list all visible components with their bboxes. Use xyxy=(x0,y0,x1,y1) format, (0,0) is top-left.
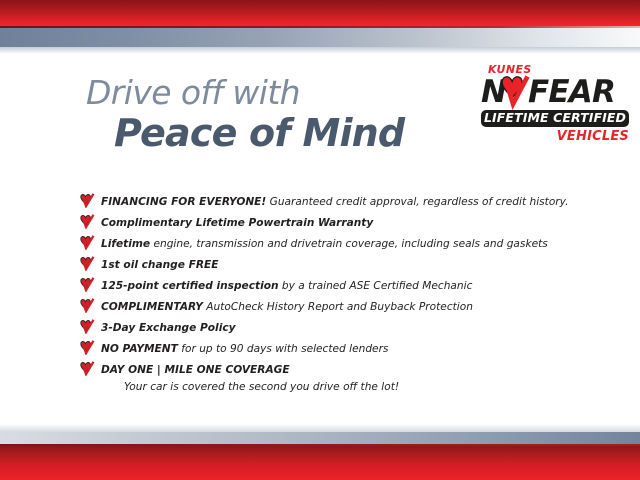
headline-line-1: Drive off with xyxy=(86,76,466,109)
feature-item: 3-Day Exchange Policy xyxy=(78,318,578,339)
feature-text: DAY ONE | MILE ONE COVERAGE xyxy=(101,364,290,376)
logo-certified-bar: LIFETIME CERTIFIED xyxy=(481,110,629,127)
heart-check-icon xyxy=(78,277,95,292)
logo-suffix-vehicles: VEHICLES xyxy=(481,130,629,143)
headline-line-2: Peace of Mind xyxy=(114,114,466,152)
feature-item: 125-point certified inspection by a trai… xyxy=(78,276,578,297)
feature-text-block: FINANCING FOR EVERYONE! Guaranteed credi… xyxy=(101,192,568,210)
feature-headline: Complimentary Lifetime Powertrain Warran… xyxy=(101,217,373,229)
feature-item: DAY ONE | MILE ONE COVERAGEYour car is c… xyxy=(78,360,578,395)
feature-text: COMPLIMENTARY AutoCheck History Report a… xyxy=(101,301,473,313)
feature-text-block: COMPLIMENTARY AutoCheck History Report a… xyxy=(101,297,473,315)
top-red-band xyxy=(0,0,640,26)
promo-banner: Drive off with Peace of Mind KUNES N FEA… xyxy=(0,0,640,480)
top-silver-band xyxy=(0,28,640,47)
heart-check-icon xyxy=(498,75,530,111)
logo-wordmark: N FEAR xyxy=(481,76,631,109)
heart-check-icon xyxy=(78,256,95,271)
feature-text: NO PAYMENT for up to 90 days with select… xyxy=(101,343,388,355)
feature-headline: 3-Day Exchange Policy xyxy=(101,322,236,334)
no-fear-logo: KUNES N FEAR LIFETIME CERTIFIED VEHICLES xyxy=(481,64,631,143)
headline: Drive off with Peace of Mind xyxy=(86,76,466,152)
feature-text: 3-Day Exchange Policy xyxy=(101,322,236,334)
heart-check-icon xyxy=(78,193,95,208)
feature-text-block: 125-point certified inspection by a trai… xyxy=(101,276,472,294)
feature-headline: NO PAYMENT xyxy=(101,343,178,355)
feature-headline: COMPLIMENTARY xyxy=(101,301,203,313)
feature-text-block: 1st oil change FREE xyxy=(101,255,219,273)
heart-check-icon xyxy=(78,361,95,376)
feature-item: Complimentary Lifetime Powertrain Warran… xyxy=(78,213,578,234)
feature-text-block: Complimentary Lifetime Powertrain Warran… xyxy=(101,213,373,231)
heart-check-icon xyxy=(78,298,95,313)
heart-check-icon xyxy=(78,214,95,229)
feature-headline: 125-point certified inspection xyxy=(101,280,279,292)
feature-text-block: Lifetime engine, transmission and drivet… xyxy=(101,234,548,252)
heart-check-icon xyxy=(78,235,95,250)
feature-detail: AutoCheck History Report and Buyback Pro… xyxy=(203,301,473,313)
feature-text: 1st oil change FREE xyxy=(101,259,219,271)
feature-headline: 1st oil change FREE xyxy=(101,259,219,271)
bottom-red-band xyxy=(0,446,640,480)
feature-text: Lifetime engine, transmission and drivet… xyxy=(101,238,548,250)
feature-subline: Your car is covered the second you drive… xyxy=(124,380,399,395)
heart-check-icon xyxy=(78,319,95,334)
feature-detail: by a trained ASE Certified Mechanic xyxy=(279,280,473,292)
feature-headline: DAY ONE | MILE ONE COVERAGE xyxy=(101,364,290,376)
feature-item: FINANCING FOR EVERYONE! Guaranteed credi… xyxy=(78,192,578,213)
feature-item: 1st oil change FREE xyxy=(78,255,578,276)
feature-headline: Lifetime xyxy=(101,238,150,250)
feature-headline: FINANCING FOR EVERYONE! xyxy=(101,196,266,208)
bottom-silver-band xyxy=(0,432,640,444)
logo-word-fear: FEAR xyxy=(528,76,615,109)
feature-item: COMPLIMENTARY AutoCheck History Report a… xyxy=(78,297,578,318)
feature-text: FINANCING FOR EVERYONE! Guaranteed credi… xyxy=(101,196,568,208)
feature-detail: engine, transmission and drivetrain cove… xyxy=(150,238,548,250)
logo-certified-text: LIFETIME CERTIFIED xyxy=(484,112,626,125)
feature-list: FINANCING FOR EVERYONE! Guaranteed credi… xyxy=(78,192,578,395)
feature-item: NO PAYMENT for up to 90 days with select… xyxy=(78,339,578,360)
heart-check-icon xyxy=(78,340,95,355)
feature-detail: for up to 90 days with selected lenders xyxy=(178,343,389,355)
feature-item: Lifetime engine, transmission and drivet… xyxy=(78,234,578,255)
bottom-silver-fade xyxy=(0,424,640,432)
top-silver-fade xyxy=(0,47,640,54)
feature-text-block: NO PAYMENT for up to 90 days with select… xyxy=(101,339,388,357)
feature-text: 125-point certified inspection by a trai… xyxy=(101,280,472,292)
feature-detail: Guaranteed credit approval, regardless o… xyxy=(266,196,568,208)
feature-text: Complimentary Lifetime Powertrain Warran… xyxy=(101,217,373,229)
feature-text-block: 3-Day Exchange Policy xyxy=(101,318,236,336)
feature-text-block: DAY ONE | MILE ONE COVERAGEYour car is c… xyxy=(101,360,399,395)
